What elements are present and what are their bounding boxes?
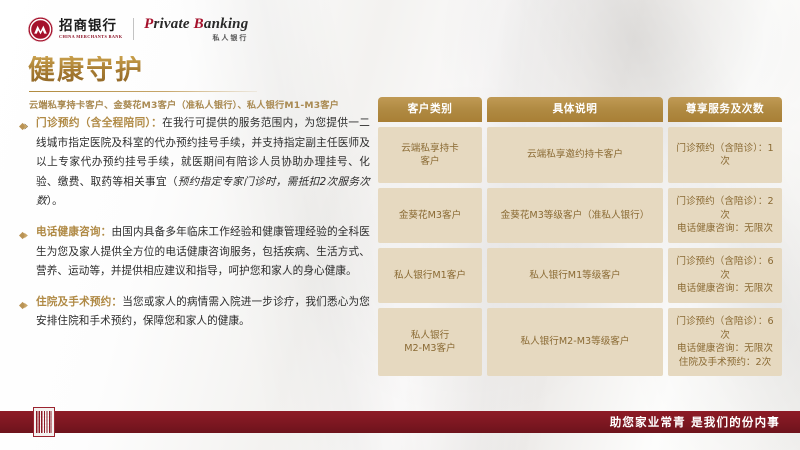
cell-text: 金葵花M3等级客户（准私人银行） — [501, 209, 650, 223]
cell-text: 云端私享持卡 客户 — [401, 142, 459, 169]
private-banking-lockup: Private Banking 私人银行 — [144, 16, 248, 43]
table-header-category: 客户类别 — [378, 97, 482, 122]
list-item-tail: ）。 — [47, 195, 63, 207]
cmb-logo-icon — [28, 17, 53, 42]
cell-text: 私人银行M1等级客户 — [529, 269, 620, 283]
cell-text: 私人银行M1客户 — [394, 269, 466, 283]
table-cell-description: 金葵花M3等级客户（准私人银行） — [487, 188, 663, 243]
list-item: 电话健康咨询：由国内具备多年临床工作经验和健康管理经验的全科医生为您及家人提供全… — [18, 223, 370, 282]
table-header-row: 客户类别 具体说明 尊享服务及次数 — [378, 97, 782, 122]
pb-letter-p: P — [144, 16, 153, 32]
cell-text: 门诊预约（含陪诊）：2次 电话健康咨询：无限次 — [672, 195, 778, 236]
cell-text: 门诊预约（含陪诊）：6次 电话健康咨询：无限次 — [672, 255, 778, 296]
private-banking-en: Private Banking — [144, 16, 248, 33]
cell-text: 私人银行 M2-M3客户 — [404, 329, 455, 356]
bank-name-cn: 招商银行 — [59, 19, 121, 34]
list-item-lead: 住院及手术预约： — [36, 296, 122, 308]
table-cell-benefits: 门诊预约（含陪诊）：6次 电话健康咨询：无限次 住院及手术预约：2次 — [668, 308, 782, 376]
list-item-text: 住院及手术预约：当您或家人的病情需入院进一步诊疗，我们悉心为您安排住院和手术预约… — [36, 293, 370, 332]
table-cell-benefits: 门诊预约（含陪诊）：1次 — [668, 127, 782, 183]
cell-text: 金葵花M3客户 — [399, 209, 461, 223]
table-cell-category: 云端私享持卡 客户 — [378, 127, 482, 183]
pb-letter-b: B — [194, 16, 204, 32]
list-item: 门诊预约（含全程陪同）：在我行可提供的服务范围内，为您提供一二线城市指定医院及科… — [18, 114, 370, 212]
list-item-text: 门诊预约（含全程陪同）：在我行可提供的服务范围内，为您提供一二线城市指定医院及科… — [36, 114, 370, 212]
page-title: 健康守护 — [28, 56, 144, 86]
table-cell-description: 云端私享邀约持卡客户 — [487, 127, 663, 183]
diamond-arrow-icon — [18, 228, 29, 239]
table-cell-category: 私人银行 M2-M3客户 — [378, 308, 482, 376]
footer-slogan: 助您家业常青 是我们的份内事 — [610, 411, 780, 433]
brand-lockup: 招商银行 CHINA MERCHANTS BANK Private Bankin… — [28, 14, 248, 44]
list-item: 住院及手术预约：当您或家人的病情需入院进一步诊疗，我们悉心为您安排住院和手术预约… — [18, 293, 370, 332]
table-header-description: 具体说明 — [487, 97, 663, 122]
list-item-lead: 电话健康咨询： — [36, 226, 111, 238]
table-cell-description: 私人银行M1等级客户 — [487, 248, 663, 303]
bank-name-en: CHINA MERCHANTS BANK — [59, 34, 122, 40]
body-content: 门诊预约（含全程陪同）：在我行可提供的服务范围内，为您提供一二线城市指定医院及科… — [18, 114, 370, 343]
cmb-wordmark: 招商银行 CHINA MERCHANTS BANK — [59, 19, 121, 40]
slide-root: 招商银行 CHINA MERCHANTS BANK Private Bankin… — [0, 0, 800, 450]
diamond-arrow-icon — [18, 119, 29, 130]
table-row: 私人银行M1客户 私人银行M1等级客户 门诊预约（含陪诊）：6次 电话健康咨询：… — [378, 248, 782, 303]
cell-text: 门诊预约（含陪诊）：6次 电话健康咨询：无限次 住院及手术预约：2次 — [672, 315, 778, 369]
diamond-arrow-icon — [18, 298, 29, 309]
cell-text: 门诊预约（含陪诊）：1次 — [672, 142, 778, 169]
benefits-table: 客户类别 具体说明 尊享服务及次数 云端私享持卡 客户 云端私享邀约持卡客户 门… — [378, 97, 782, 381]
table-row: 金葵花M3客户 金葵花M3等级客户（准私人银行） 门诊预约（含陪诊）：2次 电话… — [378, 188, 782, 243]
table-cell-category: 金葵花M3客户 — [378, 188, 482, 243]
emblem-pattern — [36, 411, 52, 433]
brand-divider — [133, 18, 134, 40]
table-cell-category: 私人银行M1客户 — [378, 248, 482, 303]
cell-text: 云端私享邀约持卡客户 — [527, 148, 623, 162]
private-banking-cn: 私人银行 — [144, 33, 248, 43]
table-cell-description: 私人银行M2-M3等级客户 — [487, 308, 663, 376]
table-cell-benefits: 门诊预约（含陪诊）：6次 电话健康咨询：无限次 — [668, 248, 782, 303]
cmb-footer-emblem-icon — [33, 407, 55, 437]
title-underline — [29, 91, 257, 92]
cell-text: 私人银行M2-M3等级客户 — [521, 335, 630, 349]
table-cell-benefits: 门诊预约（含陪诊）：2次 电话健康咨询：无限次 — [668, 188, 782, 243]
pb-word-anking: anking — [204, 16, 249, 32]
list-item-text: 电话健康咨询：由国内具备多年临床工作经验和健康管理经验的全科医生为您及家人提供全… — [36, 223, 370, 282]
pb-word-rivate: rivate — [154, 16, 194, 32]
page-subtitle: 云端私享持卡客户、金葵花M3客户（准私人银行）、私人银行M1-M3客户 — [29, 97, 339, 111]
footer: 助您家业常青 是我们的份内事 — [0, 398, 800, 450]
table-header-benefits: 尊享服务及次数 — [668, 97, 782, 122]
table-row: 云端私享持卡 客户 云端私享邀约持卡客户 门诊预约（含陪诊）：1次 — [378, 127, 782, 183]
table-row: 私人银行 M2-M3客户 私人银行M2-M3等级客户 门诊预约（含陪诊）：6次 … — [378, 308, 782, 376]
list-item-lead: 门诊预约（含全程陪同）： — [36, 117, 162, 129]
